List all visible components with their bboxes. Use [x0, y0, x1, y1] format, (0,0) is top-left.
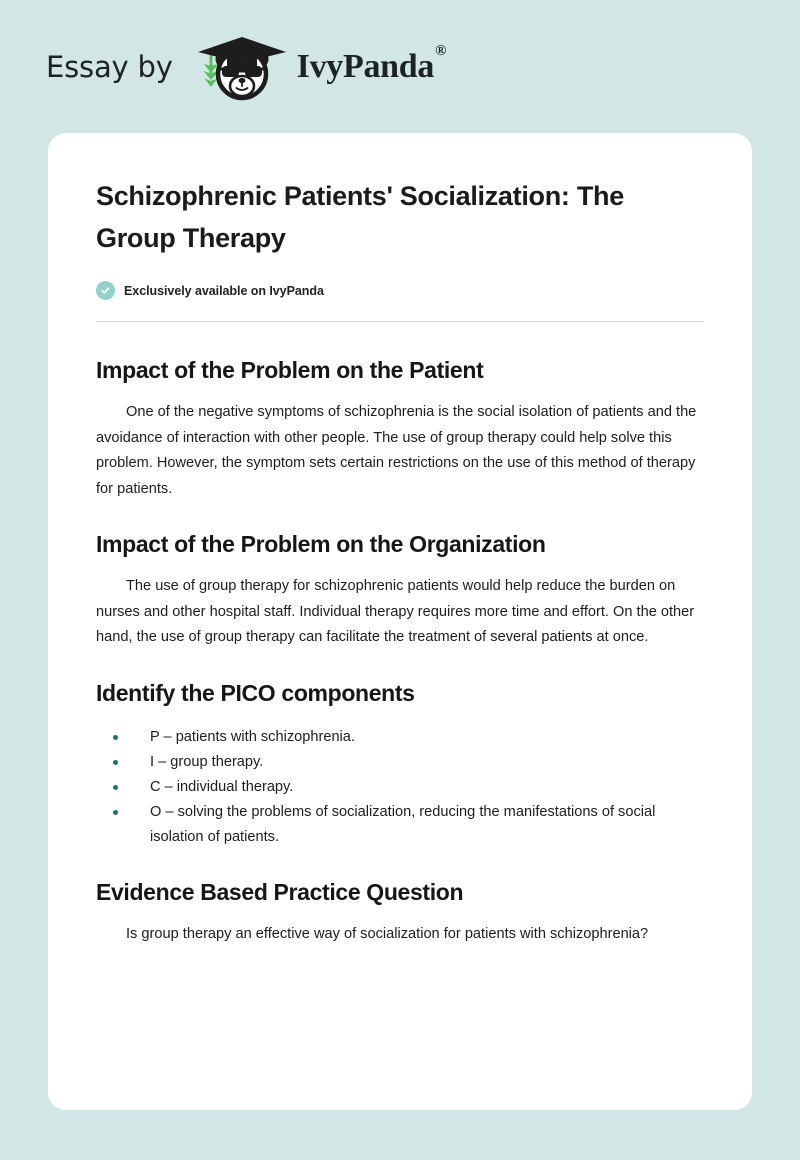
- bullet-dot-icon: [113, 810, 118, 815]
- section-heading-impact-patient: Impact of the Problem on the Patient: [96, 354, 704, 386]
- bullet-dot-icon: [113, 760, 118, 765]
- list-item-text: P – patients with schizophrenia.: [150, 729, 355, 745]
- document-content: Impact of the Problem on the Patient One…: [96, 322, 704, 947]
- brand-header: Essay by: [0, 0, 800, 133]
- brand-name-text: IvyPanda: [297, 48, 434, 85]
- bullet-dot-icon: [113, 785, 118, 790]
- section-paragraph: One of the negative symptoms of schizoph…: [96, 400, 704, 502]
- ivypanda-logo[interactable]: IvyPanda®: [189, 31, 445, 103]
- list-item-text: O – solving the problems of socializatio…: [150, 804, 655, 845]
- list-item: O – solving the problems of socializatio…: [113, 800, 704, 850]
- page-title: Schizophrenic Patients' Socialization: T…: [96, 175, 704, 259]
- brand-wordmark: IvyPanda®: [297, 48, 445, 86]
- list-item-text: I – group therapy.: [150, 754, 263, 770]
- registered-trademark-symbol: ®: [435, 43, 446, 59]
- bullet-dot-icon: [113, 735, 118, 740]
- list-item-text: C – individual therapy.: [150, 779, 293, 795]
- pico-components-list: P – patients with schizophrenia. I – gro…: [96, 725, 704, 850]
- section-heading-evidence-question: Evidence Based Practice Question: [96, 876, 704, 908]
- list-item: C – individual therapy.: [113, 775, 704, 800]
- exclusive-availability-label: Exclusively available on IvyPanda: [124, 284, 324, 298]
- list-item: I – group therapy.: [113, 750, 704, 775]
- document-card: Schizophrenic Patients' Socialization: T…: [48, 133, 752, 1110]
- check-circle-icon: [96, 281, 115, 300]
- list-item: P – patients with schizophrenia.: [113, 725, 704, 750]
- essay-by-label: Essay by: [46, 50, 173, 84]
- section-paragraph: Is group therapy an effective way of soc…: [96, 922, 704, 948]
- ivypanda-panda-logo-icon: [189, 33, 293, 103]
- section-heading-impact-organization: Impact of the Problem on the Organizatio…: [96, 528, 704, 560]
- section-paragraph: The use of group therapy for schizophren…: [96, 574, 704, 651]
- section-heading-pico-components: Identify the PICO components: [96, 677, 704, 709]
- exclusive-availability-badge: Exclusively available on IvyPanda: [96, 281, 704, 300]
